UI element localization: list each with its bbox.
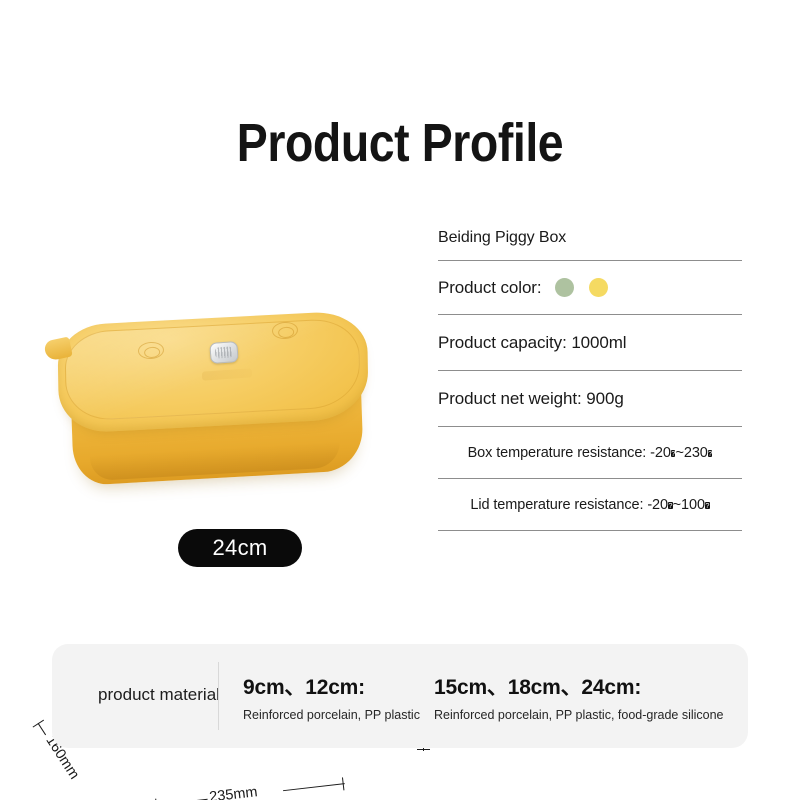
material-large-sizes-title: 15cm、18cm、24cm: (434, 671, 724, 701)
lid-temperature-prefix: Lid temperature resistance: -20 (470, 497, 668, 513)
product-color-label: Product color: (438, 278, 541, 298)
size-badge: 24cm (178, 529, 302, 567)
product-profile-page: Product Profile 235mm (0, 0, 800, 800)
dimension-end-cap (417, 749, 430, 750)
material-large-sizes-description: Reinforced porcelain, PP plastic, food-g… (434, 708, 724, 722)
material-panel: product material 9cm、12cm: Reinforced po… (52, 644, 748, 748)
box-temperature-prefix: Box temperature resistance: -20 (468, 445, 671, 461)
product-name-value: Beiding Piggy Box (438, 229, 566, 247)
net-weight-value: Product net weight: 900g (438, 389, 624, 409)
box-temperature-value: Box temperature resistance: -20?~230? (468, 445, 713, 461)
spec-row-capacity: Product capacity: 1000ml (438, 315, 742, 371)
degree-celsius-missing-glyph: ? (705, 502, 710, 509)
spec-row-product-name: Beiding Piggy Box (438, 216, 742, 261)
page-title: Product Profile (56, 112, 744, 174)
material-small-sizes-description: Reinforced porcelain, PP plastic (243, 708, 420, 722)
spec-row-box-temperature: Box temperature resistance: -20?~230? (438, 427, 742, 479)
lid-rim (64, 317, 360, 421)
lid-temperature-middle: ~100 (673, 497, 705, 513)
lid-temperature-value: Lid temperature resistance: -20?~100? (470, 497, 709, 513)
dimension-width: 235mm (152, 749, 346, 800)
spec-row-product-color: Product color: (438, 261, 742, 315)
dimension-line (37, 723, 46, 735)
spec-row-lid-temperature: Lid temperature resistance: -20?~100? (438, 479, 742, 531)
vent-valve-icon (209, 341, 238, 364)
color-swatch-sage-green[interactable] (555, 278, 574, 297)
color-swatch-group (555, 278, 608, 297)
box-temperature-middle: ~230 (675, 445, 707, 461)
capacity-value: Product capacity: 1000ml (438, 333, 626, 353)
dimension-line (283, 783, 345, 791)
color-swatch-yellow[interactable] (589, 278, 608, 297)
material-column-small-sizes: 9cm、12cm: Reinforced porcelain, PP plast… (243, 671, 420, 722)
spec-list: Beiding Piggy Box Product color: Product… (438, 216, 742, 531)
material-small-sizes-title: 9cm、12cm: (243, 671, 420, 701)
spec-row-net-weight: Product net weight: 900g (438, 371, 742, 427)
material-panel-divider (218, 662, 219, 730)
degree-celsius-missing-glyph: ? (708, 450, 713, 457)
lunch-box-illustration (54, 312, 374, 492)
material-panel-label: product material (69, 685, 249, 705)
material-column-large-sizes: 15cm、18cm、24cm: Reinforced porcelain, PP… (434, 671, 724, 722)
dimension-width-label: 235mm (208, 784, 258, 800)
